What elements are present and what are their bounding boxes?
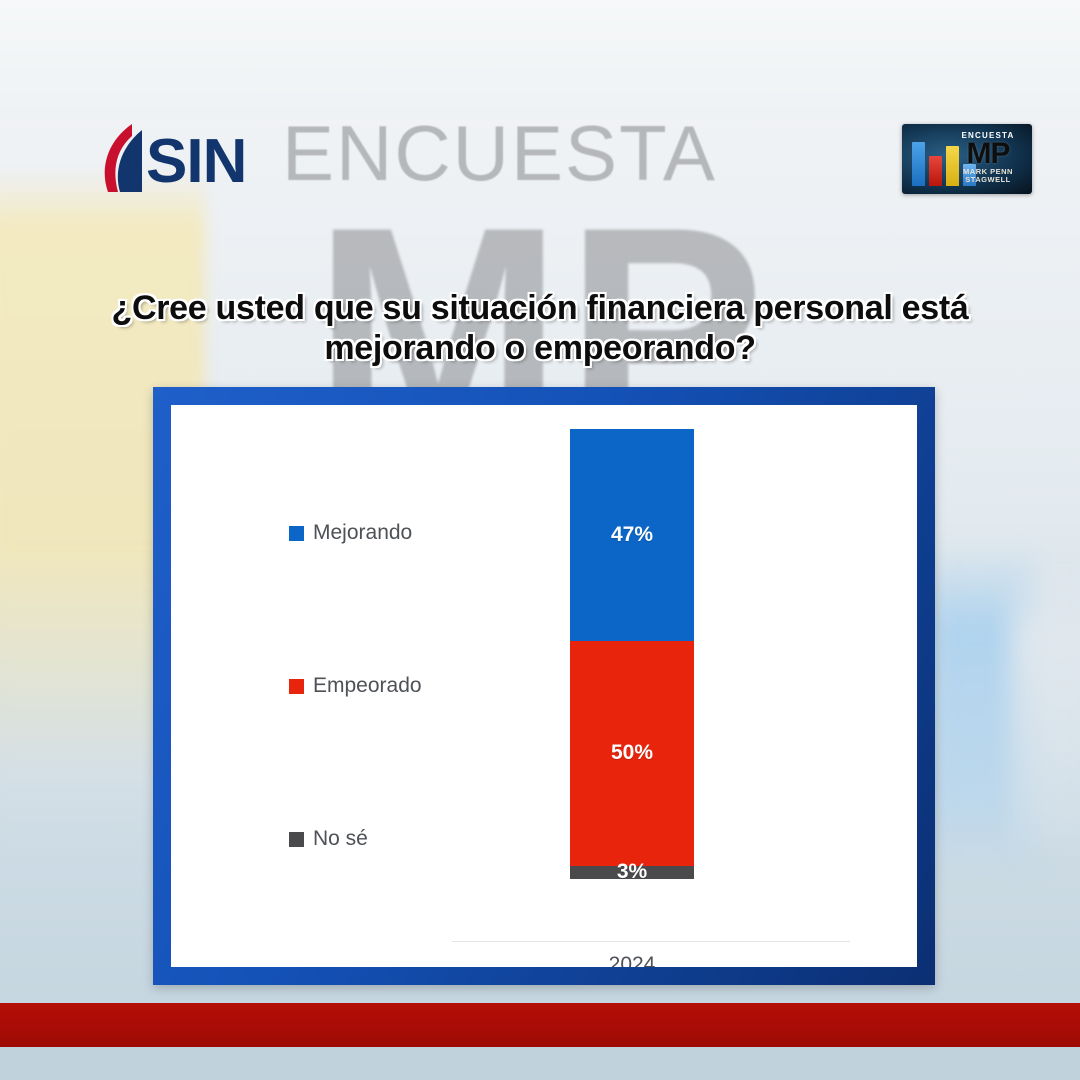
background-top-sheen (0, 0, 1080, 120)
mp-badge-text: ENCUESTA MP MARK PENN STAGWELL (950, 131, 1026, 185)
legend-swatch-no-se (289, 832, 304, 847)
chart-plot-card: Mejorando Empeorado No sé 47% 50% (171, 405, 917, 967)
background-blue-block-right (1010, 560, 1080, 860)
sin-logo: SIN (98, 120, 278, 198)
x-axis-line (452, 941, 850, 942)
mp-badge-logo: ENCUESTA MP MARK PENN STAGWELL (902, 124, 1032, 194)
bar-segment-mejorando[interactable]: 47% (570, 429, 694, 641)
plot-area: 47% 50% 3% 2024 (434, 425, 854, 943)
bar-label-no-se: 3% (617, 860, 647, 884)
legend-item-no-se[interactable]: No sé (289, 827, 368, 851)
bar-label-mejorando: 47% (611, 523, 653, 547)
chart-frame: Mejorando Empeorado No sé 47% 50% (153, 387, 935, 985)
page-title: ¿Cree usted que su situación financiera … (40, 288, 1040, 368)
sin-swoosh-icon (98, 122, 150, 194)
bottom-red-band (0, 1003, 1080, 1047)
stacked-bar-2024[interactable]: 47% 50% 3% (570, 429, 694, 879)
bar-segment-no-se[interactable]: 3% (570, 866, 694, 880)
x-axis-tick-label-2024: 2024 (570, 953, 694, 967)
sin-logo-text: SIN (146, 126, 246, 197)
mp-badge-mp-label: MP (950, 140, 1026, 168)
legend-item-empeorado[interactable]: Empeorado (289, 674, 422, 698)
infographic-canvas: ENCUESTA MP SIN ENCUESTA MP MARK PENN ST… (0, 0, 1080, 1080)
legend-item-mejorando[interactable]: Mejorando (289, 521, 412, 545)
bar-label-empeorado: 50% (611, 741, 653, 765)
bar-segment-empeorado[interactable]: 50% (570, 641, 694, 866)
legend-label-empeorado: Empeorado (313, 674, 422, 698)
legend-label-no-se: No sé (313, 827, 368, 851)
legend-label-mejorando: Mejorando (313, 521, 412, 545)
legend-swatch-empeorado (289, 679, 304, 694)
mp-badge-subtitle: MARK PENN STAGWELL (950, 168, 1026, 185)
legend-swatch-mejorando (289, 526, 304, 541)
bottom-gray-band (0, 1047, 1080, 1080)
